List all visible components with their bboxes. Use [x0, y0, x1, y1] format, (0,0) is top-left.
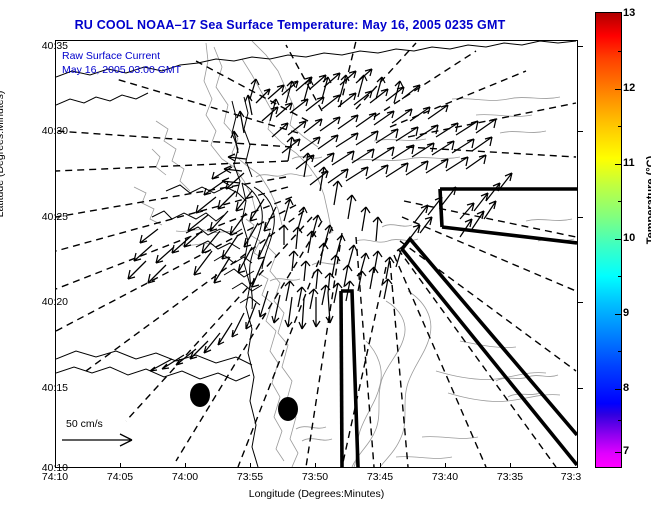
colorbar-minor-tick — [618, 201, 622, 202]
colorbar-tick-label: 10 — [623, 232, 635, 244]
y-tick-label: 40:35 — [16, 40, 68, 52]
x-tick-label: 73:3 — [548, 471, 594, 483]
annotation-line-2: May 16, 2005 03:00 GMT — [62, 63, 181, 77]
colorbar-gradient — [596, 13, 621, 467]
y-tick-mark — [578, 46, 583, 47]
page-title: RU COOL NOAA–17 Sea Surface Temperature:… — [0, 18, 580, 32]
colorbar-tick-label: 12 — [623, 82, 635, 94]
map-plot-area[interactable]: Raw Surface Current May 16, 2005 03:00 G… — [55, 40, 578, 468]
vector-scale-label: 50 cm/s — [55, 418, 146, 430]
x-tick-label: 73:40 — [422, 471, 468, 483]
colorbar-minor-tick — [618, 51, 622, 52]
y-tick-mark — [578, 217, 583, 218]
y-axis-label: Latitude (Degrees:Minutes) — [0, 54, 6, 254]
colorbar-tick-label: 11 — [623, 157, 635, 169]
x-tick-label: 73:55 — [227, 471, 273, 483]
y-tick-mark — [578, 302, 583, 303]
colorbar-tick-mark — [615, 389, 622, 390]
colorbar-tick-label: 8 — [623, 382, 629, 394]
colorbar[interactable] — [595, 12, 622, 468]
vector-scale-arrow — [55, 430, 146, 452]
colorbar-label: Temperature (°C) — [645, 100, 651, 300]
colorbar-tick-mark — [615, 314, 622, 315]
station-marker — [278, 397, 298, 421]
x-tick-mark — [120, 463, 121, 468]
y-tick-label: 40:25 — [16, 211, 68, 223]
colorbar-minor-tick — [618, 276, 622, 277]
y-tick-mark — [578, 388, 583, 389]
x-tick-label: 73:45 — [357, 471, 403, 483]
x-tick-label: 73:50 — [292, 471, 338, 483]
y-tick-label: 40:20 — [16, 296, 68, 308]
colorbar-tick-mark — [615, 164, 622, 165]
x-tick-mark — [185, 463, 186, 468]
x-tick-mark — [380, 463, 381, 468]
colorbar-tick-mark — [615, 452, 622, 453]
colorbar-tick-mark — [615, 89, 622, 90]
current-annotation: Raw Surface Current May 16, 2005 03:00 G… — [62, 49, 181, 77]
surface-current-vectors — [128, 69, 512, 371]
colorbar-tick-label: 13 — [623, 7, 635, 19]
map-canvas — [56, 41, 577, 467]
colorbar-tick-label: 7 — [623, 445, 629, 457]
y-tick-label: 40:30 — [16, 125, 68, 137]
y-tick-label: 40:15 — [16, 382, 68, 394]
colorbar-minor-tick — [618, 351, 622, 352]
x-tick-mark — [315, 463, 316, 468]
colorbar-minor-tick — [618, 420, 622, 421]
station-markers[interactable] — [190, 383, 298, 421]
x-tick-label: 73:35 — [487, 471, 533, 483]
vector-scale-legend: 50 cm/s — [55, 418, 146, 457]
radar-radial-beams — [56, 41, 576, 467]
colorbar-minor-tick — [618, 126, 622, 127]
x-tick-mark — [445, 463, 446, 468]
colorbar-tick-mark — [615, 239, 622, 240]
x-tick-mark — [250, 463, 251, 468]
colorbar-tick-label: 9 — [623, 307, 629, 319]
x-tick-label: 74:05 — [97, 471, 143, 483]
annotation-line-1: Raw Surface Current — [62, 49, 181, 63]
y-tick-mark — [578, 131, 583, 132]
x-tick-label: 74:00 — [162, 471, 208, 483]
x-axis-label: Longitude (Degrees:Minutes) — [55, 488, 578, 500]
station-marker — [190, 383, 210, 407]
x-tick-mark — [510, 463, 511, 468]
x-tick-label: 74:10 — [32, 471, 78, 483]
